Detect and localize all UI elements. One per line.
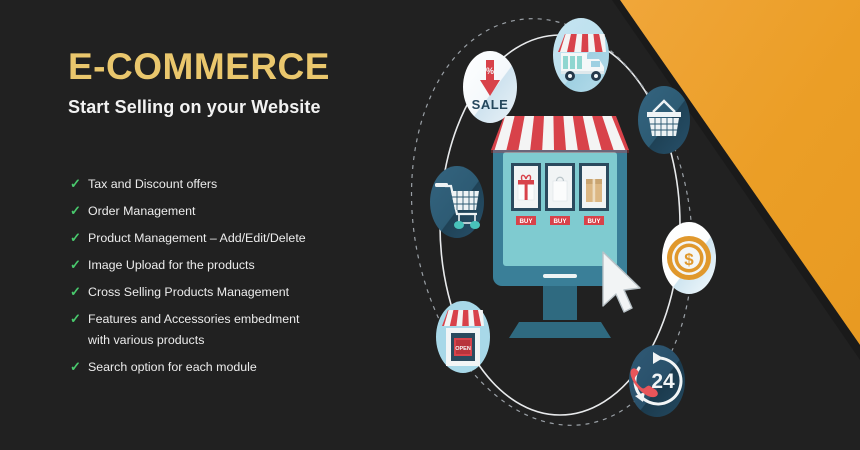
monitor-stand-base: [509, 322, 611, 338]
sale-label: SALE: [472, 97, 509, 112]
buy-label-1: BUY: [519, 218, 533, 225]
feature-label: Search option for each module: [88, 360, 257, 374]
check-icon: ✓: [70, 360, 81, 373]
headline-block: E-COMMERCE Start Selling on your Website: [68, 48, 398, 118]
feature-item: ✓Product Management – Add/Edit/Delete: [70, 232, 410, 245]
support-24-label: 24: [651, 370, 675, 393]
ecommerce-banner: E-COMMERCE Start Selling on your Website…: [0, 0, 860, 450]
feature-label: with various products: [88, 333, 204, 347]
badge-coin[interactable]: $: [662, 222, 716, 294]
check-icon: ✓: [70, 204, 81, 217]
ecommerce-illustration: BUY BUY BUY: [395, 0, 725, 450]
feature-item: ✓Features and Accessories embedment: [70, 313, 410, 326]
check-icon: ✓: [70, 285, 81, 298]
buy-label-3: BUY: [587, 218, 601, 225]
monitor: BUY BUY BUY: [491, 116, 640, 338]
badge-storefront[interactable]: OPEN: [436, 301, 490, 373]
storefront-open-label: OPEN: [455, 346, 471, 352]
badge-support-24[interactable]: 24: [629, 345, 685, 417]
feature-item: ✓Search option for each module: [70, 361, 410, 374]
check-icon: ✓: [70, 177, 81, 190]
sale-percent-label: %: [486, 66, 494, 76]
coin-dollar-label: $: [684, 250, 694, 269]
monitor-stand-neck: [543, 282, 577, 320]
check-icon: ✓: [70, 312, 81, 325]
badge-sale[interactable]: % SALE: [463, 51, 517, 123]
feature-item: ✓Image Upload for the products: [70, 259, 410, 272]
dollar-coin-icon: $: [667, 236, 711, 280]
feature-item: ✓Order Management: [70, 205, 410, 218]
check-icon: ✓: [70, 231, 81, 244]
badge-shopping-basket[interactable]: [638, 86, 690, 154]
badge-delivery-truck[interactable]: [553, 18, 609, 92]
shop-awning: [491, 116, 629, 153]
feature-label: Product Management – Add/Edit/Delete: [88, 231, 306, 245]
feature-label: Cross Selling Products Management: [88, 285, 289, 299]
monitor-indicator: [543, 274, 577, 278]
buy-label-2: BUY: [553, 218, 567, 225]
feature-label: Tax and Discount offers: [88, 177, 217, 191]
storefront-open-icon: OPEN: [442, 310, 484, 366]
feature-list: ✓Tax and Discount offers✓Order Managemen…: [70, 178, 410, 388]
feature-item: ✓Cross Selling Products Management: [70, 286, 410, 299]
feature-item: ✓with various products: [70, 334, 410, 347]
feature-label: Features and Accessories embedment: [88, 312, 299, 326]
check-icon: ✓: [70, 258, 81, 271]
feature-item: ✓Tax and Discount offers: [70, 178, 410, 191]
badge-shopping-cart[interactable]: [430, 166, 484, 238]
feature-label: Image Upload for the products: [88, 258, 255, 272]
feature-label: Order Management: [88, 204, 195, 218]
page-title: E-COMMERCE: [68, 48, 398, 87]
page-subtitle: Start Selling on your Website: [68, 97, 398, 118]
